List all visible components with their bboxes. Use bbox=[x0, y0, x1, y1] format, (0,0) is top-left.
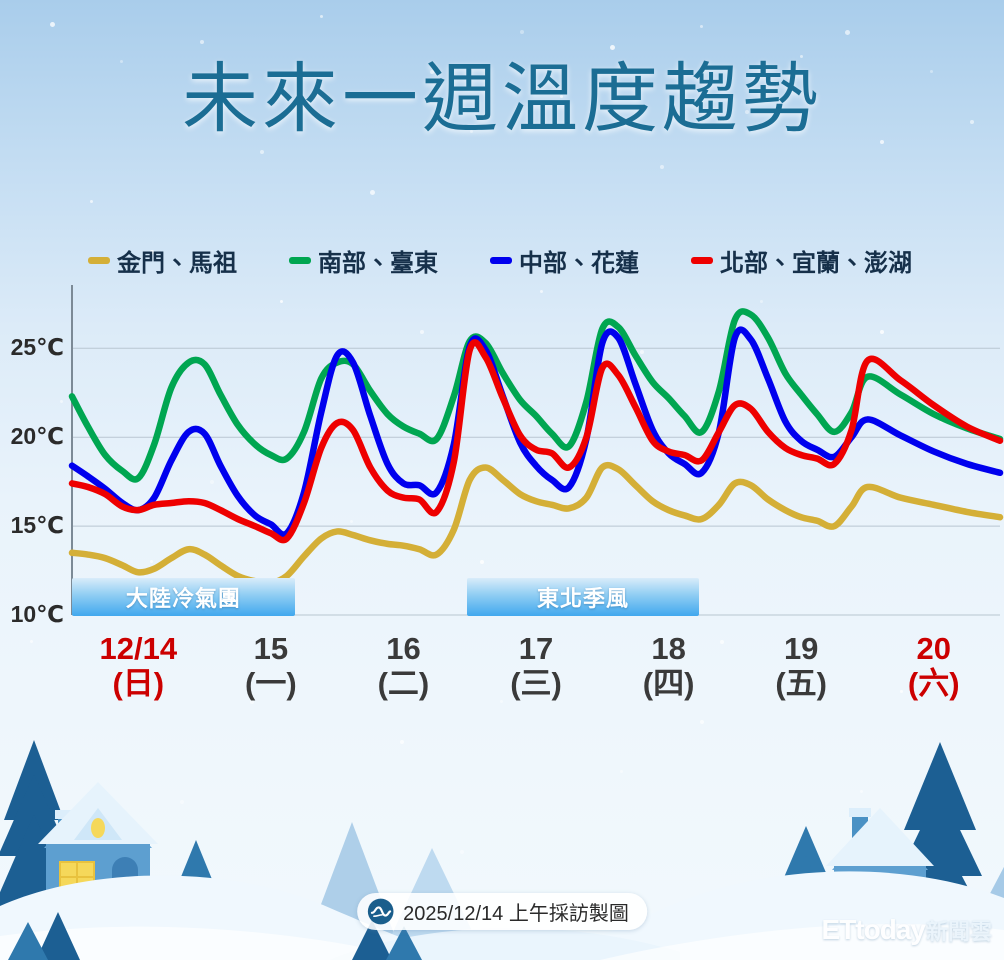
date-weekday-6: (六) bbox=[867, 667, 1000, 702]
snow-dot bbox=[320, 15, 323, 18]
annotation-bar-0: 大陸冷氣團 bbox=[72, 578, 295, 616]
watermark-brand: ETtoday bbox=[822, 914, 925, 946]
y-tick-20: 20℃ bbox=[0, 423, 64, 450]
date-weekday-1: (一) bbox=[205, 667, 338, 702]
date-number-5: 19 bbox=[735, 632, 868, 667]
snow-dot bbox=[540, 290, 543, 293]
annotation-bar-1: 東北季風 bbox=[467, 578, 699, 616]
snow-dot bbox=[845, 30, 850, 35]
legend-swatch-north-yilan-penghu bbox=[691, 257, 713, 264]
legend-label-kinmen-matsu: 金門、馬祖 bbox=[117, 243, 237, 278]
snow-dot bbox=[660, 165, 664, 169]
date-weekday-0: (日) bbox=[72, 667, 205, 702]
legend-item-central-hualien[interactable]: 中部、花蓮 bbox=[490, 243, 639, 278]
credit-pill: 2025/12/14 上午採訪製圖 bbox=[357, 893, 647, 930]
annotation-label-0: 大陸冷氣團 bbox=[126, 581, 241, 613]
snow-dot bbox=[30, 640, 33, 643]
snow-dot bbox=[90, 200, 93, 203]
snow-dot bbox=[260, 150, 264, 154]
date-weekday-2: (二) bbox=[337, 667, 470, 702]
snow-dot bbox=[880, 140, 884, 144]
legend-label-central-hualien: 中部、花蓮 bbox=[519, 243, 639, 278]
infographic-canvas: 未來一週溫度趨勢 金門、馬祖南部、臺東中部、花蓮北部、宜蘭、澎湖 25℃20℃1… bbox=[0, 0, 1004, 960]
legend-item-south-taitung[interactable]: 南部、臺東 bbox=[289, 243, 438, 278]
snow-dot bbox=[200, 40, 204, 44]
date-cell-1[interactable]: 15(一) bbox=[205, 632, 338, 724]
legend-swatch-kinmen-matsu bbox=[88, 257, 110, 264]
temperature-line-chart bbox=[72, 295, 1000, 615]
snow-dot bbox=[700, 25, 703, 28]
chart-series-group bbox=[72, 311, 1000, 583]
annotation-label-1: 東北季風 bbox=[537, 581, 629, 613]
date-number-0: 12/14 bbox=[72, 632, 205, 667]
chart-svg bbox=[72, 295, 1000, 615]
date-number-6: 20 bbox=[867, 632, 1000, 667]
snow-dot bbox=[50, 22, 55, 27]
chart-legend: 金門、馬祖南部、臺東中部、花蓮北部、宜蘭、澎湖 bbox=[88, 243, 928, 277]
date-weekday-3: (三) bbox=[470, 667, 603, 702]
watermark-suffix: 新聞雲 bbox=[926, 914, 992, 946]
legend-swatch-south-taitung bbox=[289, 257, 311, 264]
credit-text: 2025/12/14 上午採訪製圖 bbox=[403, 897, 629, 926]
date-cell-4[interactable]: 18(四) bbox=[602, 632, 735, 724]
series-line-金門-馬祖 bbox=[72, 465, 1000, 583]
ettoday-watermark: ETtoday 新聞雲 bbox=[822, 914, 992, 946]
legend-item-kinmen-matsu[interactable]: 金門、馬祖 bbox=[88, 243, 237, 278]
date-number-4: 18 bbox=[602, 632, 735, 667]
date-cell-3[interactable]: 17(三) bbox=[470, 632, 603, 724]
date-cell-2[interactable]: 16(二) bbox=[337, 632, 470, 724]
legend-label-north-yilan-penghu: 北部、宜蘭、澎湖 bbox=[720, 243, 912, 278]
y-tick-25: 25℃ bbox=[0, 334, 64, 361]
y-axis-labels: 25℃20℃15℃10℃ bbox=[0, 295, 64, 635]
date-weekday-5: (五) bbox=[735, 667, 868, 702]
date-cell-0[interactable]: 12/14(日) bbox=[72, 632, 205, 724]
date-cell-6[interactable]: 20(六) bbox=[867, 632, 1000, 724]
snow-dot bbox=[520, 30, 524, 34]
date-cell-5[interactable]: 19(五) bbox=[735, 632, 868, 724]
x-axis-date-labels: 12/14(日)15(一)16(二)17(三)18(四)19(五)20(六) bbox=[72, 632, 1000, 724]
y-tick-15: 15℃ bbox=[0, 512, 64, 539]
date-number-3: 17 bbox=[470, 632, 603, 667]
date-weekday-4: (四) bbox=[602, 667, 735, 702]
legend-item-north-yilan-penghu[interactable]: 北部、宜蘭、澎湖 bbox=[691, 243, 912, 278]
date-number-1: 15 bbox=[205, 632, 338, 667]
page-title: 未來一週溫度趨勢 bbox=[0, 62, 1004, 138]
cwa-logo bbox=[367, 898, 394, 925]
snow-dot bbox=[370, 190, 375, 195]
legend-swatch-central-hualien bbox=[490, 257, 512, 264]
legend-label-south-taitung: 南部、臺東 bbox=[318, 243, 438, 278]
y-tick-10: 10℃ bbox=[0, 601, 64, 628]
date-number-2: 16 bbox=[337, 632, 470, 667]
snow-dot bbox=[610, 45, 615, 50]
